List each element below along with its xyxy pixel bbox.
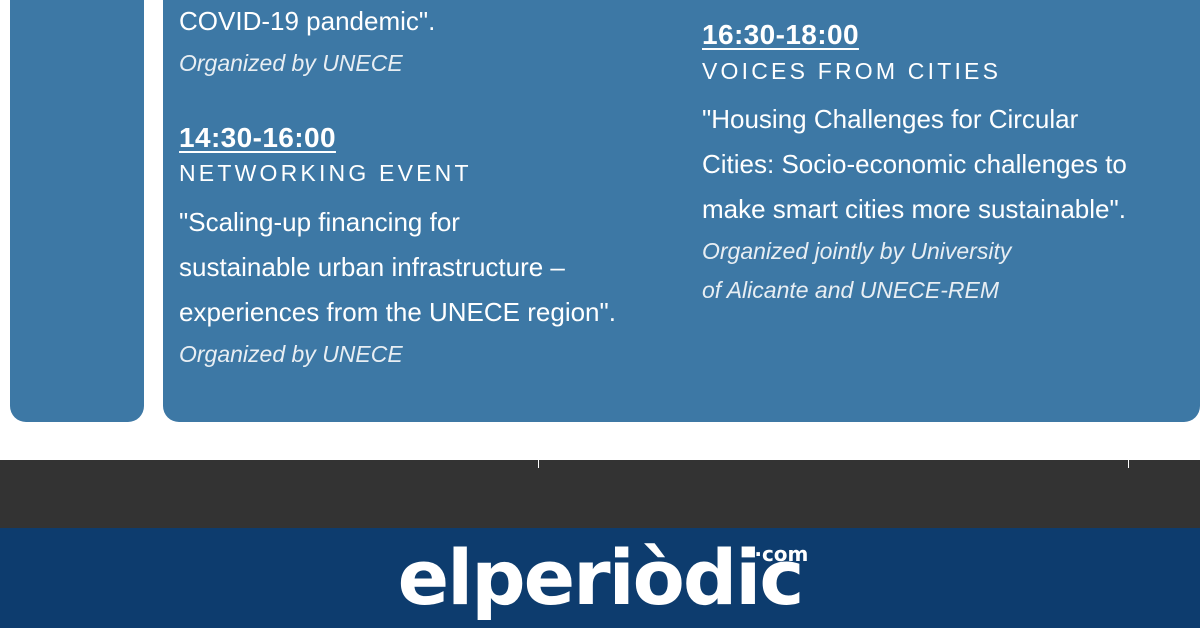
poster-image: strengthen recoveries from the COVID-19 … <box>0 0 1200 460</box>
event-organizer: Organized by UNECE <box>179 337 659 372</box>
event-title-line: make smart cities more sustainable". <box>702 189 1172 230</box>
events-column-right: 16:30-18:00 VOICES FROM CITIES "Housing … <box>702 18 1172 309</box>
event-organizer: Organized jointly by University <box>702 234 1172 269</box>
event-title-line: Cities: Socio-economic challenges to <box>702 144 1172 185</box>
event-title-line: "Scaling-up financing for <box>179 202 659 243</box>
footer-tick-right <box>1128 460 1129 468</box>
footer-logo-bar: elperiòdic ·com <box>0 528 1200 628</box>
left-decorative-panel <box>10 0 144 422</box>
event-item-partial: strengthen recoveries from the COVID-19 … <box>179 0 659 81</box>
event-organizer: of Alicante and UNECE-REM <box>702 273 1172 308</box>
site-logo[interactable]: elperiòdic ·com <box>398 540 803 616</box>
event-time: 14:30-16:00 <box>179 121 659 155</box>
event-type: NETWORKING EVENT <box>179 160 659 188</box>
footer-dark-bar <box>0 460 1200 528</box>
site-logo-domain: com <box>762 542 808 566</box>
event-organizer: Organized by UNECE <box>179 46 659 81</box>
events-column-left: strengthen recoveries from the COVID-19 … <box>179 0 659 374</box>
site-logo-dot: · <box>754 542 762 566</box>
event-title-line: "Housing Challenges for Circular <box>702 99 1172 140</box>
event-title-line: COVID-19 pandemic". <box>179 1 659 42</box>
site-logo-text: elperiòdic <box>398 533 803 622</box>
site-logo-suffix: ·com <box>754 544 808 564</box>
event-title-line: sustainable urban infrastructure – <box>179 247 659 288</box>
event-time: 16:30-18:00 <box>702 18 1172 52</box>
event-item-voices-from-cities: 16:30-18:00 VOICES FROM CITIES "Housing … <box>702 18 1172 307</box>
footer-tick-left <box>538 460 539 468</box>
event-item-networking: 14:30-16:00 NETWORKING EVENT "Scaling-up… <box>179 121 659 372</box>
event-type: VOICES FROM CITIES <box>702 58 1172 86</box>
event-title-line: experiences from the UNECE region". <box>179 292 659 333</box>
